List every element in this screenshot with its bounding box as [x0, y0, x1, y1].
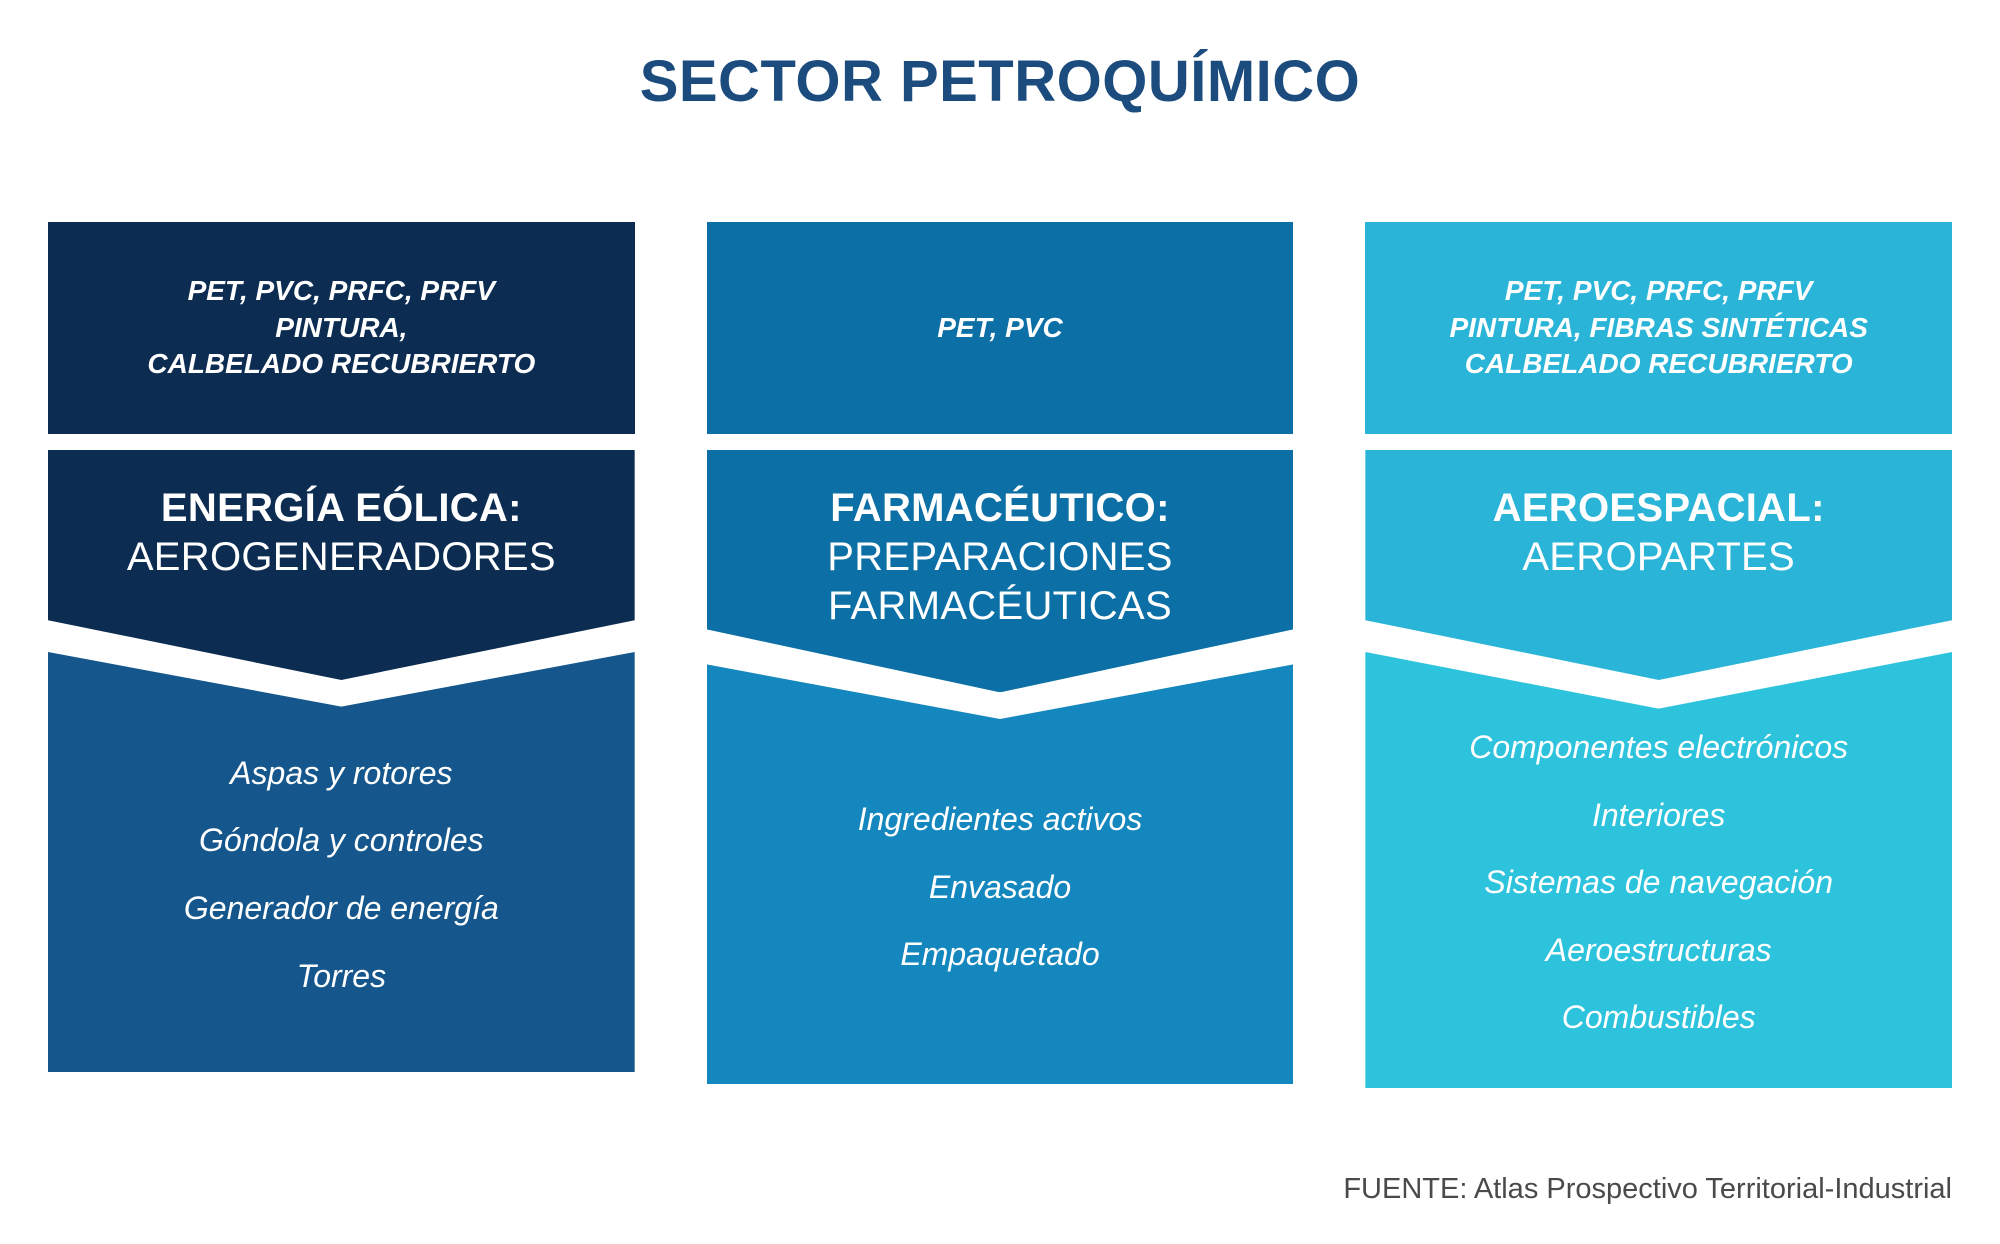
materials-box-col3: PET, PVC, PRFC, PRFV PINTURA, FIBRAS SIN… [1365, 222, 1952, 434]
list-item: Sistemas de navegación [1484, 862, 1833, 904]
list-item: Combustibles [1562, 997, 1756, 1039]
list-item: Componentes electrónicos [1469, 727, 1848, 769]
list-item: Torres [297, 956, 387, 998]
materials-box-col1: PET, PVC, PRFC, PRFV PINTURA, CALBELADO … [48, 222, 635, 434]
list-item: Empaquetado [900, 934, 1099, 976]
columns-container: PET, PVC, PRFC, PRFV PINTURA, CALBELADO … [48, 222, 1952, 1088]
materials-line: PINTURA, [275, 310, 407, 346]
list-item: Góndola y controles [199, 820, 484, 862]
list-item: Aspas y rotores [230, 753, 452, 795]
materials-box-col2: PET, PVC [707, 222, 1294, 434]
materials-line: PET, PVC [937, 310, 1063, 346]
list-item: Ingredientes activos [858, 799, 1143, 841]
materials-line: PET, PVC, PRFC, PRFV [188, 273, 496, 309]
products-box-col1: Aspas y rotores Góndola y controles Gene… [48, 652, 635, 1072]
sector-box-col1: ENERGÍA EÓLICA: AEROGENERADORES [48, 450, 635, 680]
list-item: Envasado [929, 867, 1071, 909]
sector-subtitle: PREPARACIONESFARMACÉUTICAS [827, 533, 1172, 631]
column-aeroespacial: PET, PVC, PRFC, PRFV PINTURA, FIBRAS SIN… [1365, 222, 1952, 1088]
sector-subtitle: AEROPARTES [1522, 533, 1795, 582]
materials-line: CALBELADO RECUBRIERTO [147, 346, 535, 382]
list-item: Aeroestructuras [1546, 930, 1772, 972]
column-farmaceutico: PET, PVC FARMACÉUTICO: PREPARACIONESFARM… [707, 222, 1294, 1088]
products-box-col2: Ingredientes activos Envasado Empaquetad… [707, 664, 1294, 1084]
products-box-col3: Componentes electrónicos Interiores Sist… [1365, 652, 1952, 1088]
sector-title: AEROESPACIAL: [1493, 484, 1825, 533]
materials-line: CALBELADO RECUBRIERTO [1465, 346, 1853, 382]
materials-line: PET, PVC, PRFC, PRFV [1505, 273, 1813, 309]
sector-subtitle: AEROGENERADORES [127, 533, 556, 582]
list-item: Generador de energía [184, 888, 499, 930]
sector-box-col2: FARMACÉUTICO: PREPARACIONESFARMACÉUTICAS [707, 450, 1294, 692]
infographic-root: SECTOR PETROQUÍMICO PET, PVC, PRFC, PRFV… [0, 0, 2000, 1244]
page-title: SECTOR PETROQUÍMICO [0, 48, 2000, 115]
materials-line: PINTURA, FIBRAS SINTÉTICAS [1449, 310, 1867, 346]
sector-title: ENERGÍA EÓLICA: [161, 484, 522, 533]
source-credit: FUENTE: Atlas Prospectivo Territorial-In… [1343, 1173, 1952, 1206]
list-item: Interiores [1592, 795, 1725, 837]
sector-title: FARMACÉUTICO: [830, 484, 1169, 533]
sector-box-col3: AEROESPACIAL: AEROPARTES [1365, 450, 1952, 680]
column-energia-eolica: PET, PVC, PRFC, PRFV PINTURA, CALBELADO … [48, 222, 635, 1088]
